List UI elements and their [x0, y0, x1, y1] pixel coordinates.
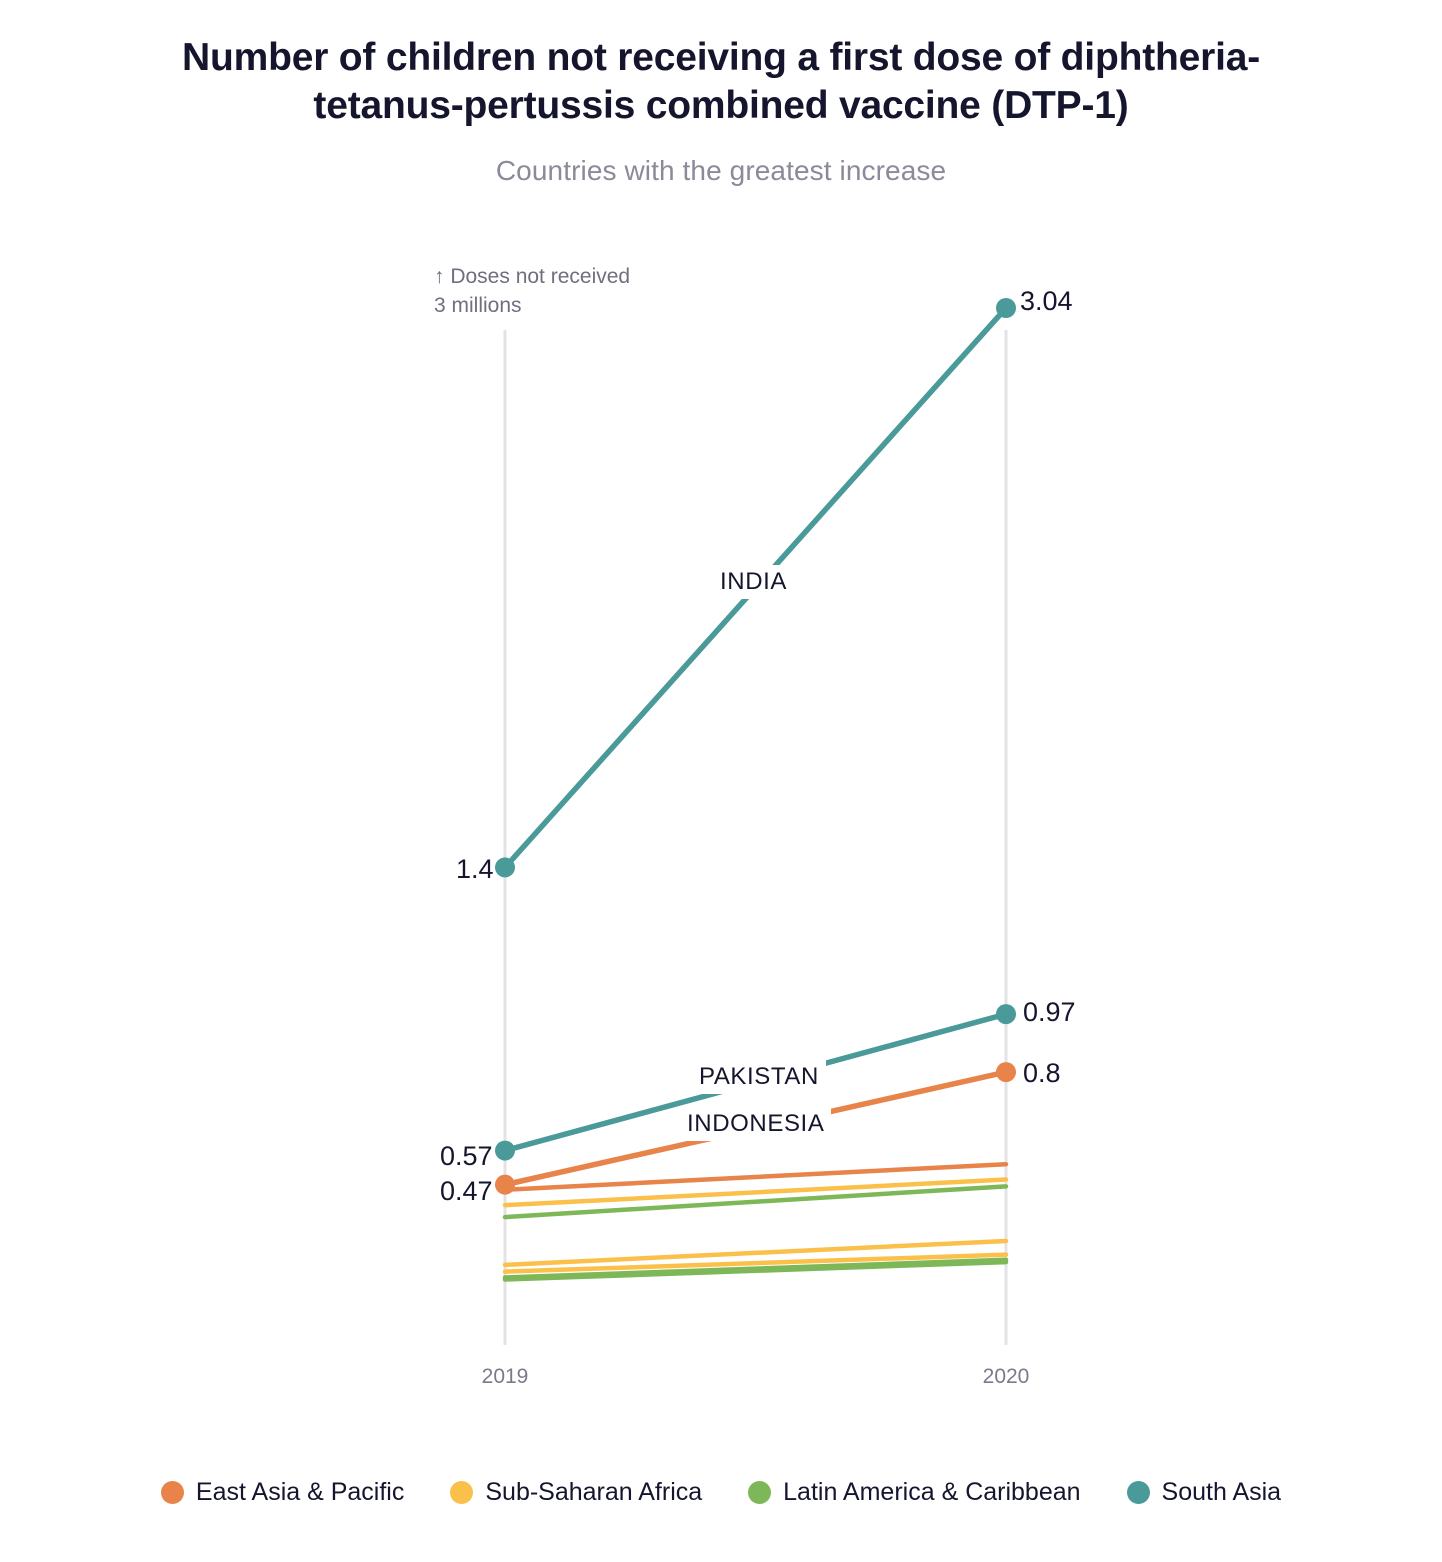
value-label-indonesia-2020: 0.8 — [1023, 1058, 1061, 1089]
legend-item-label: South Asia — [1162, 1478, 1282, 1507]
value-label-pakistan-2020: 0.97 — [1023, 997, 1076, 1028]
legend-item[interactable]: East Asia & Pacific — [161, 1478, 404, 1507]
value-label-india-2020: 3.04 — [1020, 286, 1073, 317]
series-line-unlabeled-5 — [505, 1255, 1006, 1272]
legend-item-label: Sub-Saharan Africa — [485, 1478, 702, 1507]
series-line-unlabeled-3 — [505, 1186, 1006, 1217]
legend-item-label: Latin America & Caribbean — [783, 1478, 1080, 1507]
y-axis-note: ↑ Doses not received 3 millions — [434, 263, 630, 321]
legend-swatch-icon — [450, 1481, 473, 1504]
value-label-pakistan-2019: 0.57 — [440, 1141, 493, 1172]
chart-container: Number of children not receiving a first… — [0, 0, 1442, 1562]
legend-item[interactable]: South Asia — [1127, 1478, 1282, 1507]
data-point-indonesia-2019[interactable] — [495, 1175, 515, 1195]
legend-swatch-icon — [748, 1481, 771, 1504]
chart-legend: East Asia & PacificSub-Saharan AfricaLat… — [0, 1478, 1442, 1507]
legend-item-label: East Asia & Pacific — [196, 1478, 404, 1507]
value-label-indonesia-2019: 0.47 — [440, 1176, 493, 1207]
series-line-unlabeled-6 — [505, 1260, 1006, 1278]
x-tick-2019: 2019 — [482, 1365, 529, 1389]
plot-svg — [0, 0, 1442, 1562]
annotation-india: INDIA — [713, 565, 794, 599]
chart-title: Number of children not receiving a first… — [56, 34, 1386, 129]
gridlines — [505, 330, 1006, 1345]
data-point-indonesia-2020[interactable] — [996, 1062, 1016, 1082]
series-line-unlabeled-1 — [505, 1164, 1006, 1190]
data-point-india-2019[interactable] — [495, 857, 515, 877]
annotation-indonesia: INDONESIA — [680, 1107, 831, 1141]
value-label-india-2019: 1.4 — [456, 854, 494, 885]
data-point-india-2020[interactable] — [996, 298, 1016, 318]
series-line-unlabeled-7 — [505, 1262, 1006, 1279]
series-line-unlabeled-2 — [505, 1180, 1006, 1206]
x-tick-2020: 2020 — [983, 1365, 1030, 1389]
annotation-pakistan: PAKISTAN — [692, 1060, 826, 1094]
legend-swatch-icon — [161, 1481, 184, 1504]
series-line-unlabeled-4 — [505, 1241, 1006, 1265]
chart-header: Number of children not receiving a first… — [0, 0, 1442, 187]
data-point-pakistan-2019[interactable] — [495, 1141, 515, 1161]
legend-item[interactable]: Sub-Saharan Africa — [450, 1478, 702, 1507]
legend-swatch-icon — [1127, 1481, 1150, 1504]
data-point-pakistan-2020[interactable] — [996, 1004, 1016, 1024]
chart-subtitle: Countries with the greatest increase — [0, 155, 1442, 187]
legend-item[interactable]: Latin America & Caribbean — [748, 1478, 1080, 1507]
